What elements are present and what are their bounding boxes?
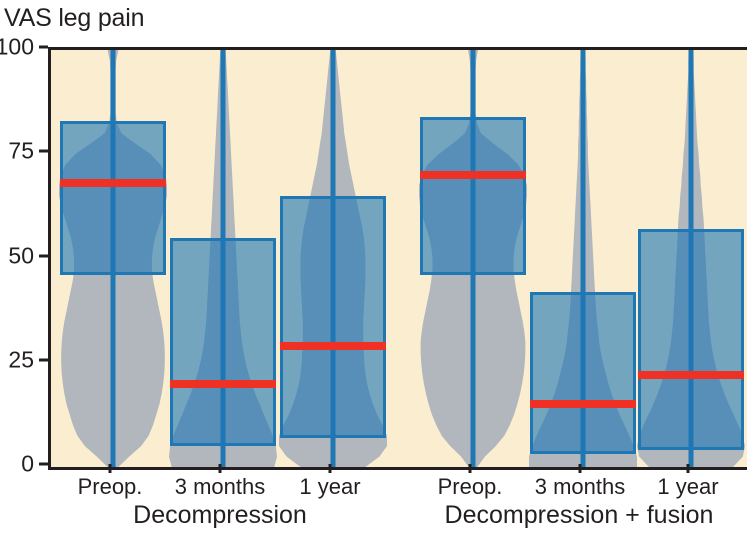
group-label-2: Decompression + fusion [445,500,714,530]
x-tick-label: Preop. [438,474,503,500]
x-tick-label: 3 months [535,474,626,500]
y-tick-label: 50 [8,244,34,267]
median-line [170,380,276,388]
x-tick-mark [579,464,582,473]
median-line [530,400,636,408]
plot-clip [51,50,747,467]
y-tick-mark [39,46,48,49]
x-tick-label: 1 year [657,474,718,500]
median-line [420,171,526,179]
y-axis: 0255075100 [0,0,48,533]
box-rect [530,292,636,455]
median-line [638,371,744,379]
x-tick-label: Preop. [78,474,143,500]
y-tick-mark [39,358,48,361]
y-tick-label: 75 [8,140,34,163]
box-rect [420,117,526,275]
box-rect [280,196,386,438]
y-tick-mark [39,150,48,153]
x-tick-label: 3 months [175,474,266,500]
x-tick-mark [109,464,112,473]
y-tick-label: 100 [0,36,34,59]
y-tick-mark [39,463,48,466]
y-tick-mark [39,254,48,257]
x-tick-mark [329,464,332,473]
box-rect [60,121,166,275]
y-tick-label: 25 [8,348,34,371]
box-rect [638,229,744,450]
x-tick-mark [687,464,690,473]
median-line [60,179,166,187]
x-tick-label: 1 year [299,474,360,500]
box-rect [170,238,276,447]
group-label-1: Decompression [133,500,307,530]
x-tick-mark [469,464,472,473]
x-tick-mark [219,464,222,473]
plot-area [48,47,747,470]
median-line [280,342,386,350]
y-tick-label: 0 [21,453,34,476]
chart-container: VAS leg pain 0255075100 Preop.3 months1 … [0,0,747,533]
